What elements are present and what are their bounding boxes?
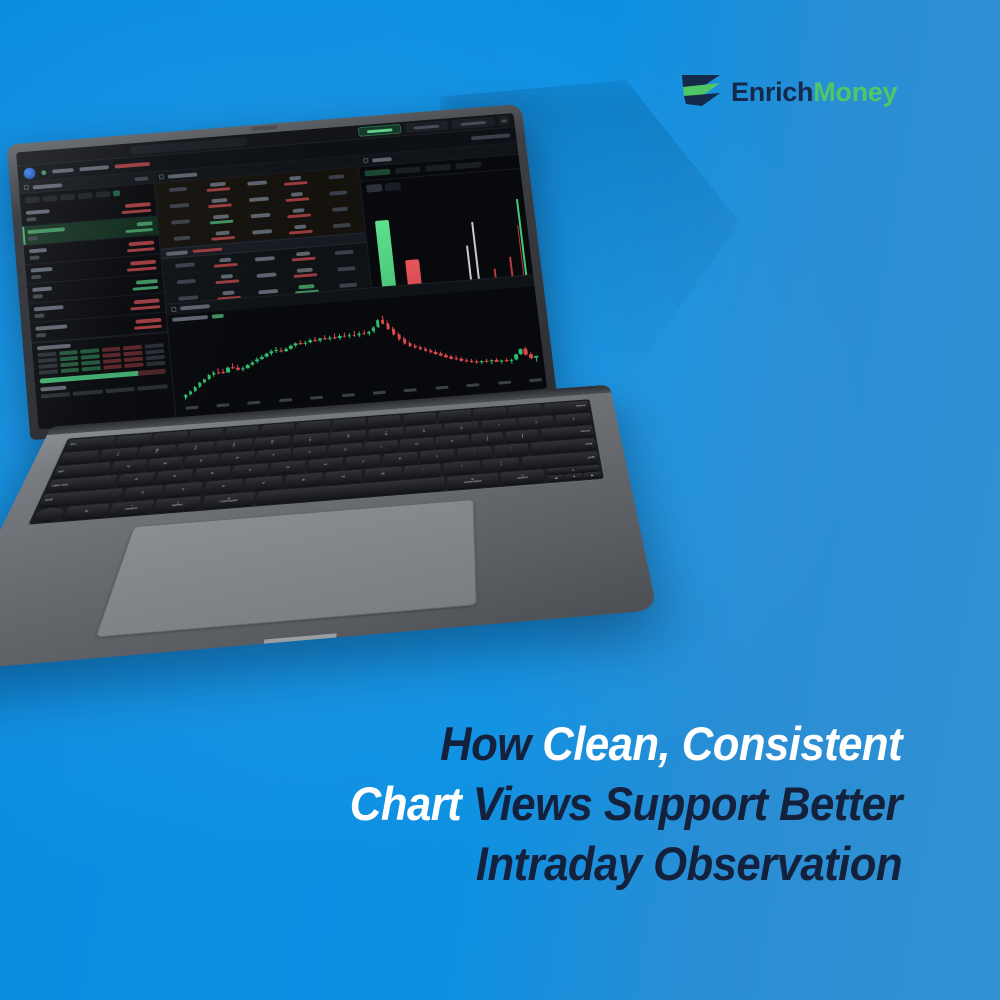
key-k[interactable]: K xyxy=(382,452,417,467)
key-f2[interactable] xyxy=(151,431,188,445)
page-title: How Clean, Consistent Chart Views Suppor… xyxy=(231,714,902,894)
key-command-right[interactable]: ⌘command xyxy=(447,473,498,490)
trackpad[interactable] xyxy=(95,499,477,637)
key-4[interactable]: $4 xyxy=(214,438,253,452)
headline-plain-3: Intraday Observation xyxy=(476,837,902,890)
watchlist-chip[interactable] xyxy=(60,194,75,201)
laptop-screen-bezel xyxy=(7,104,558,440)
key-option-left[interactable]: ⌥option xyxy=(153,496,202,513)
key-command-left[interactable]: ⌘command xyxy=(201,492,256,509)
x-axis-tick xyxy=(466,383,479,387)
ticker-price xyxy=(79,165,109,171)
key-arrow-down-icon[interactable]: ▼ xyxy=(565,473,583,480)
key-bracket-left[interactable]: {[ xyxy=(471,432,504,446)
x-axis-tick xyxy=(310,396,323,400)
key-u[interactable]: U xyxy=(328,443,363,457)
key-m[interactable]: M xyxy=(364,467,402,482)
x-axis-tick xyxy=(341,393,354,397)
ticker-change xyxy=(115,162,151,169)
toolbar-button-desktop[interactable] xyxy=(451,117,495,130)
key-y[interactable]: Y xyxy=(292,446,327,460)
key-9[interactable]: (9 xyxy=(406,424,441,438)
key-o[interactable]: O xyxy=(400,437,433,451)
key-7[interactable]: &7 xyxy=(330,430,367,444)
key-r[interactable]: R xyxy=(219,451,255,465)
key-f10[interactable] xyxy=(438,409,471,422)
key-q[interactable]: Q xyxy=(109,459,147,474)
key-semicolon[interactable]: :; xyxy=(457,446,492,460)
key-f7[interactable] xyxy=(332,417,366,430)
laptop-device: esc delete ~` !1 @2 #3 $4 xyxy=(18,110,618,710)
market-watch-settings-icon[interactable] xyxy=(134,176,148,181)
option-chain-title xyxy=(167,172,197,178)
arrow-key-cluster: ▲ ◀ ▼ ▶ xyxy=(546,465,601,482)
headline-highlight-1: Clean, Consistent xyxy=(542,717,902,770)
market-watch-title xyxy=(33,183,63,189)
webcam-icon xyxy=(252,125,278,131)
panel-menu-icon[interactable] xyxy=(363,158,368,163)
tab-oi-statistics[interactable] xyxy=(364,169,390,177)
toggle-chg[interactable] xyxy=(384,182,401,191)
watchlist-chip[interactable] xyxy=(42,195,57,202)
grid-icon[interactable] xyxy=(498,115,510,125)
key-f11[interactable] xyxy=(474,407,507,420)
market-depth-panel xyxy=(32,332,173,402)
key-e[interactable]: E xyxy=(183,454,220,468)
key-equals[interactable]: += xyxy=(518,416,554,430)
key-backtick[interactable]: ~` xyxy=(58,450,99,464)
ticker-symbol xyxy=(52,168,74,174)
key-2[interactable]: @2 xyxy=(137,444,177,458)
lid-open-notch xyxy=(263,633,337,648)
key-period[interactable]: >. xyxy=(444,461,481,476)
key-f8[interactable] xyxy=(367,415,401,428)
headline-line-1: How Clean, Consistent xyxy=(231,714,902,774)
watchlist-chip[interactable] xyxy=(95,191,110,198)
x-axis-tick xyxy=(279,398,292,402)
key-bracket-right[interactable]: }] xyxy=(506,429,540,443)
chart-symbol-label xyxy=(172,315,208,322)
toolbar-button-trade[interactable] xyxy=(358,124,402,137)
brand-wordmark: EnrichMoney xyxy=(731,79,897,106)
laptop-base: esc delete ~` !1 @2 #3 $4 xyxy=(0,385,657,673)
watchlist-chip[interactable] xyxy=(78,192,93,199)
brand-word-enrich: Enrich xyxy=(731,77,813,107)
app-logo-icon xyxy=(23,167,36,179)
brand-word-money: Money xyxy=(813,77,897,107)
key-comma[interactable]: <, xyxy=(404,464,441,479)
headline-line-3: Intraday Observation xyxy=(231,834,902,894)
key-option-right[interactable]: ⌥option xyxy=(500,470,545,486)
key-6[interactable]: ^6 xyxy=(291,433,328,447)
x-axis-tick xyxy=(216,403,229,407)
key-z[interactable]: Z xyxy=(121,485,163,501)
key-f[interactable]: F xyxy=(231,463,269,478)
key-b[interactable]: B xyxy=(284,473,323,488)
key-fn[interactable]: fn xyxy=(63,504,110,521)
tab-trending-oi[interactable] xyxy=(395,166,421,174)
key-1[interactable]: !1 xyxy=(97,447,138,461)
headline-plain-2: Views Support Better xyxy=(461,777,902,830)
key-f5[interactable] xyxy=(260,423,295,436)
key-power-touchid[interactable] xyxy=(32,507,66,522)
market-status-dot xyxy=(41,170,46,175)
key-f6[interactable] xyxy=(296,420,331,433)
key-arrow-left-icon[interactable]: ◀ xyxy=(547,474,565,481)
fundamentals-title xyxy=(40,386,66,392)
tab-pcr-ratio[interactable] xyxy=(425,164,451,172)
key-d[interactable]: D xyxy=(193,466,232,481)
x-axis-tick xyxy=(498,381,511,385)
key-3[interactable]: #3 xyxy=(175,441,214,455)
key-arrow-right-icon[interactable]: ▶ xyxy=(583,472,601,479)
x-axis-tick xyxy=(404,388,417,392)
key-l[interactable]: L xyxy=(420,449,455,463)
market-depth-title xyxy=(37,344,71,351)
trading-chart-title xyxy=(180,304,210,310)
x-axis-tick xyxy=(373,391,386,395)
watchlist-chip[interactable] xyxy=(25,197,40,204)
oi-plot-title xyxy=(372,157,392,162)
market-watch-panel xyxy=(19,172,177,429)
key-h[interactable]: H xyxy=(307,458,344,473)
key-j[interactable]: J xyxy=(345,455,381,470)
headline-line-2: Chart Views Support Better xyxy=(231,774,902,834)
watchlist-add-icon[interactable] xyxy=(113,190,120,196)
enrich-money-chevron-logo-icon xyxy=(680,72,722,112)
panel-menu-icon[interactable] xyxy=(24,185,29,190)
key-f9[interactable] xyxy=(403,412,436,425)
x-axis-tick xyxy=(185,406,198,410)
key-f12[interactable] xyxy=(508,404,541,417)
key-a[interactable]: A xyxy=(116,472,156,487)
headline-highlight-2: Chart xyxy=(350,777,461,830)
key-t[interactable]: T xyxy=(255,448,291,462)
key-x[interactable]: X xyxy=(162,482,203,498)
x-axis-tick xyxy=(248,401,261,405)
key-backslash[interactable]: |\ xyxy=(556,413,592,426)
key-g[interactable]: G xyxy=(269,460,306,475)
key-control[interactable]: ^control xyxy=(108,500,154,516)
key-i[interactable]: I xyxy=(364,440,398,454)
brand-logo: EnrichMoney xyxy=(680,72,897,112)
key-f4[interactable] xyxy=(224,425,260,439)
key-s[interactable]: S xyxy=(154,469,193,484)
toolbar-button-quotes[interactable] xyxy=(404,120,448,133)
key-p[interactable]: P xyxy=(435,435,468,449)
x-axis-tick xyxy=(529,378,542,382)
panel-menu-icon[interactable] xyxy=(171,307,176,312)
x-axis-tick xyxy=(435,386,448,390)
key-w[interactable]: W xyxy=(146,457,184,471)
chart-interval-label xyxy=(211,314,223,319)
key-c[interactable]: C xyxy=(203,479,244,494)
key-n[interactable]: N xyxy=(324,470,363,485)
key-quote[interactable]: "' xyxy=(494,443,529,457)
key-f1[interactable] xyxy=(114,434,152,448)
toggle-oi[interactable] xyxy=(366,184,383,193)
key-v[interactable]: V xyxy=(243,476,283,491)
panel-menu-icon[interactable] xyxy=(158,174,163,179)
key-minus[interactable]: _- xyxy=(481,418,517,432)
key-8[interactable]: *8 xyxy=(368,427,404,441)
headline-plain-1: How xyxy=(440,717,542,770)
ticker-date xyxy=(471,133,510,140)
key-0[interactable]: )0 xyxy=(444,421,479,435)
key-f3[interactable] xyxy=(187,428,224,442)
tab-options-chart[interactable] xyxy=(455,162,481,170)
key-slash[interactable]: ?/ xyxy=(483,457,520,472)
laptop-screen xyxy=(16,113,547,429)
key-5[interactable]: %5 xyxy=(253,436,291,450)
